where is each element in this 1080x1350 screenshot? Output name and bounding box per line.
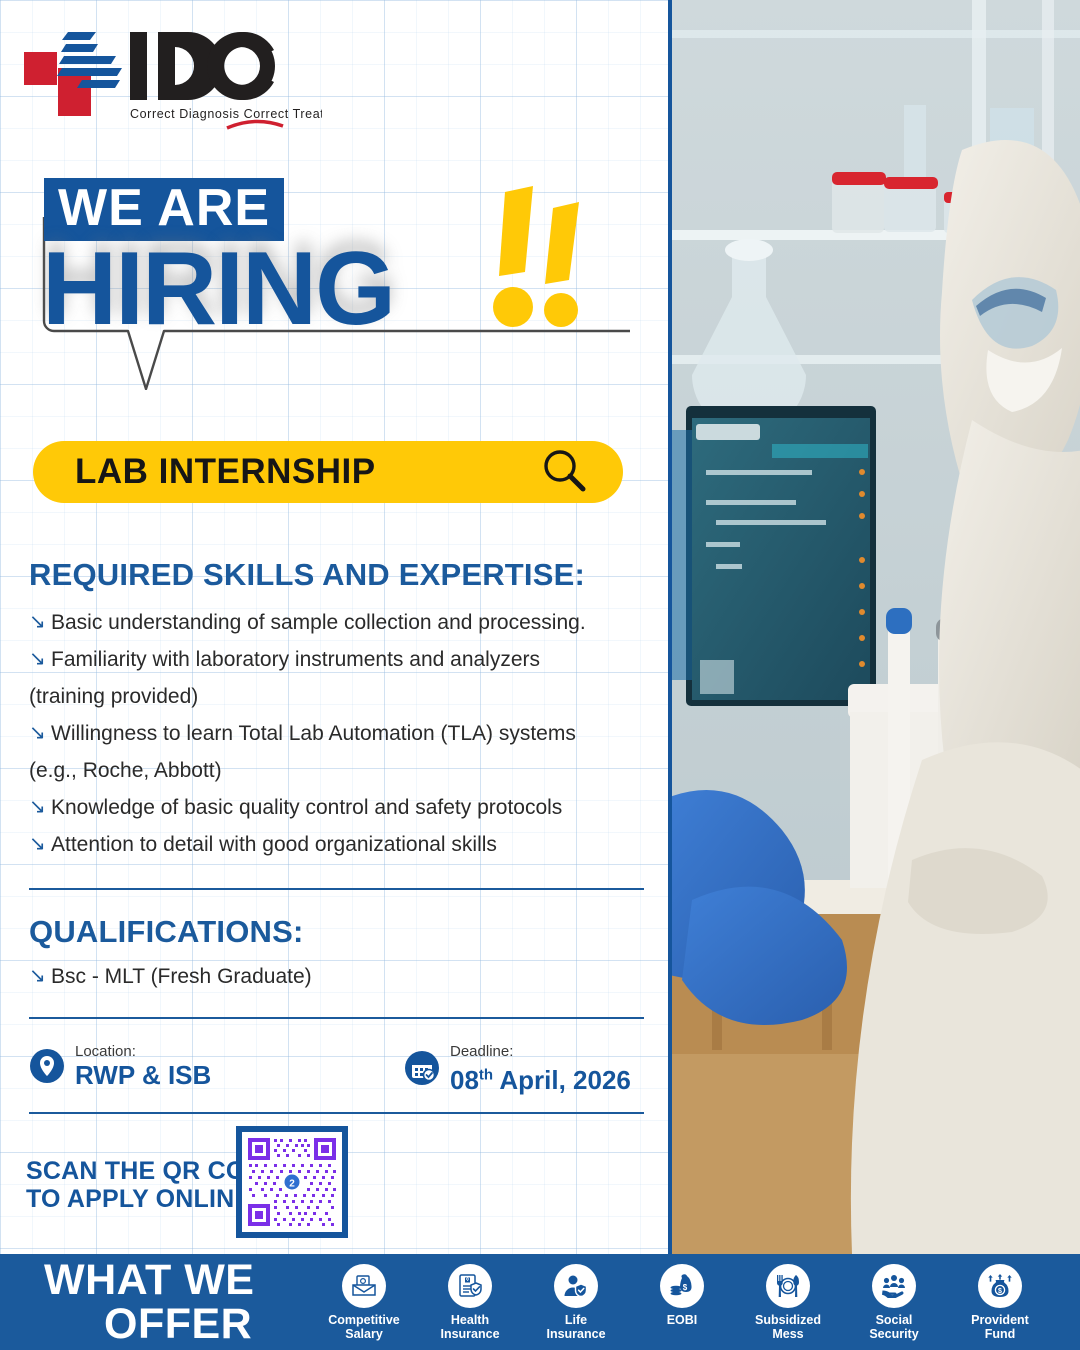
benefit-competitive-salary: CompetitiveSalary [320,1264,408,1341]
section-divider [29,1017,644,1019]
exclamation-marks-icon [491,180,631,330]
magnifier-icon [541,447,587,498]
svg-text:$: $ [998,1288,1002,1295]
photo-divider [668,0,672,1254]
money-bag-coins-icon: $ [660,1264,704,1308]
person-shield-icon [554,1264,598,1308]
health-document-shield-icon [448,1264,492,1308]
list-item-text: Knowledge of basic quality control and s… [51,793,562,822]
arrow-bullet-icon: ↘ [29,793,51,821]
list-item-continuation: (training provided) [29,682,644,711]
hiring-headline-block: WE ARE HIRING [36,175,621,345]
offer-title: WHAT WE OFFER [44,1258,314,1346]
arrow-bullet-icon: ↘ [29,830,51,858]
arrow-bullet-icon: ↘ [29,719,51,747]
benefit-eobi: $ EOBI [638,1264,726,1327]
benefit-label: SocialSecurity [850,1313,938,1341]
list-item: ↘ Bsc - MLT (Fresh Graduate) [29,962,644,991]
offer-title-line1: WHAT WE [44,1256,254,1304]
what-we-offer-bar: WHAT WE OFFER CompetitiveSalary [0,1254,1080,1350]
benefit-label: EOBI [638,1313,726,1327]
deadline-value: 08th April, 2026 [450,1065,631,1095]
list-item: ↘ Willingness to learn Total Lab Automat… [29,719,644,748]
benefit-provident-fund: $ ProvidentFund [956,1264,1044,1341]
benefit-label: ProvidentFund [956,1313,1044,1341]
section-divider [29,888,644,890]
list-item-text: Attention to detail with good organizati… [51,830,497,859]
calendar-icon [404,1050,440,1086]
list-item-text: Willingness to learn Total Lab Automatio… [51,719,576,748]
deadline-suffix: th [479,1066,493,1083]
qr-instruction-line2: TO APPLY ONLINE [26,1185,251,1213]
offer-title-line2: OFFER [44,1302,314,1346]
list-item-continuation: (e.g., Roche, Abbott) [29,756,644,785]
list-item-text: Basic understanding of sample collection… [51,608,586,637]
skills-list: ↘ Basic understanding of sample collecti… [29,608,644,867]
arrow-bullet-icon: ↘ [29,962,51,990]
job-poster: Correct Diagnosis Correct Treatment WE A… [0,0,1080,1350]
position-title: LAB INTERNSHIP [75,452,376,492]
money-bag-arrows-icon: $ [978,1264,1022,1308]
qualifications-list: ↘ Bsc - MLT (Fresh Graduate) [29,962,644,999]
skills-heading: REQUIRED SKILLS AND EXPERTISE: [29,557,585,593]
position-pill[interactable]: LAB INTERNSHIP [33,441,623,503]
list-item: ↘ Basic understanding of sample collecti… [29,608,644,637]
deadline-label: Deadline: [450,1043,513,1060]
section-divider [29,1112,644,1114]
benefits-list: CompetitiveSalary HealthInsuran [320,1264,1044,1341]
arrow-bullet-icon: ↘ [29,645,51,673]
lab-scientist-photo [672,0,1080,1254]
location-value: RWP & ISB [75,1060,211,1090]
benefit-label: LifeInsurance [532,1313,620,1341]
location-block: Location: RWP & ISB [29,1043,211,1089]
svg-text:Correct Diagnosis Correct Trea: Correct Diagnosis Correct Treatment [130,107,322,121]
plate-cutlery-icon [766,1264,810,1308]
benefit-social-security: SocialSecurity [850,1264,938,1341]
benefit-label: CompetitiveSalary [320,1313,408,1341]
list-item-text: Bsc - MLT (Fresh Graduate) [51,962,312,991]
list-item: ↘ Familiarity with laboratory instrument… [29,645,644,674]
money-envelope-icon [342,1264,386,1308]
list-item-text: Familiarity with laboratory instruments … [51,645,540,674]
benefit-health-insurance: HealthInsurance [426,1264,514,1341]
deadline-block: Deadline: 08th April, 2026 [404,1043,631,1094]
svg-text:$: $ [683,1283,688,1292]
list-item: ↘ Attention to detail with good organiza… [29,830,644,859]
deadline-day: 08 [450,1065,479,1095]
headline-hiring: HIRING [42,237,394,341]
qr-code[interactable]: 2 [236,1126,348,1238]
benefit-life-insurance: LifeInsurance [532,1264,620,1341]
benefit-label: HealthInsurance [426,1313,514,1341]
svg-text:2: 2 [289,1179,295,1190]
benefit-subsidized-mess: SubsidizedMess [744,1264,832,1341]
idc-logo: Correct Diagnosis Correct Treatment [22,28,322,133]
benefit-label: SubsidizedMess [744,1313,832,1341]
qualifications-heading: QUALIFICATIONS: [29,914,304,950]
map-pin-icon [29,1048,65,1084]
location-label: Location: [75,1043,136,1060]
arrow-bullet-icon: ↘ [29,608,51,636]
deadline-month-year: April, 2026 [499,1065,631,1095]
list-item: ↘ Knowledge of basic quality control and… [29,793,644,822]
people-hand-icon [872,1264,916,1308]
